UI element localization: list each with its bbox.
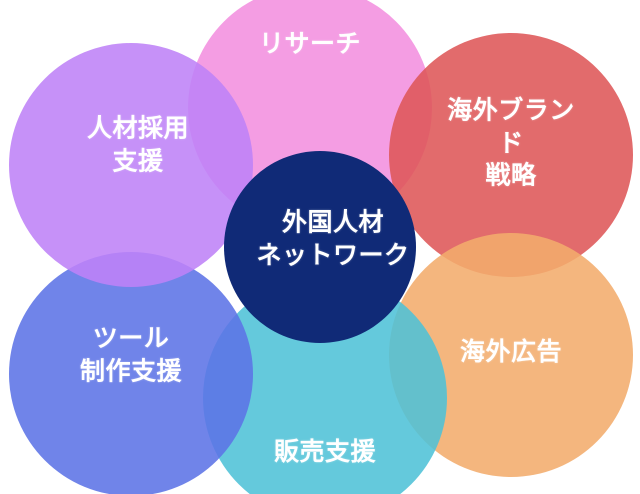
center-circle-foreign-talent-network[interactable] — [224, 151, 416, 343]
petal-circle-talent-recruitment-support[interactable] — [9, 43, 253, 287]
venn-diagram: リサーチ 海外ブランド 戦略 海外広告 販売支援 ツール 制作支援 人材採用 支… — [0, 0, 640, 494]
petal-circle-tool-production-support[interactable] — [9, 252, 253, 494]
venn-canvas — [0, 0, 640, 494]
